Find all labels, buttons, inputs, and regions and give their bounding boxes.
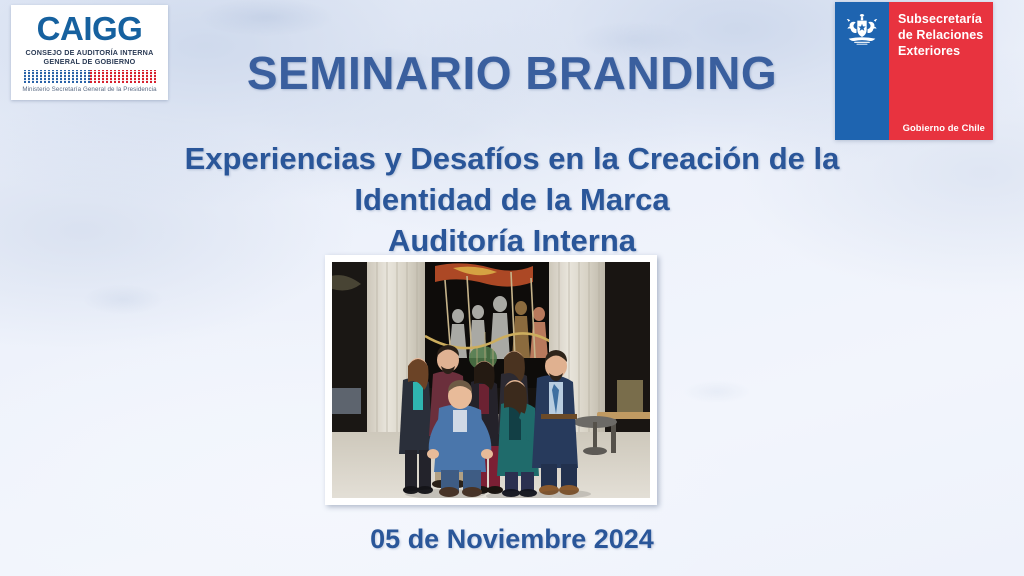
gobierno-logo-footer: Gobierno de Chile [903,122,985,133]
slide-subtitle: Experiencias y Desafíos en la Creación d… [0,138,1024,262]
gobierno-title-line2: de Relaciones [898,28,983,42]
slide-main-title: SEMINARIO BRANDING [0,46,1024,100]
slide-date: 05 de Noviembre 2024 [0,524,1024,555]
presentation-slide: CAIGG CONSEJO DE AUDITORÍA INTERNA GENER… [0,0,1024,576]
group-photo-illustration [332,262,650,498]
caigg-wordmark: CAIGG [37,12,143,45]
group-photo-frame [325,255,657,505]
group-photo [332,262,650,498]
subtitle-line-2: Identidad de la Marca [0,179,1024,220]
subtitle-line-1: Experiencias y Desafíos en la Creación d… [0,138,1024,179]
chilean-coat-of-arms-icon [842,12,882,48]
gobierno-title-line1: Subsecretaría [898,12,982,26]
